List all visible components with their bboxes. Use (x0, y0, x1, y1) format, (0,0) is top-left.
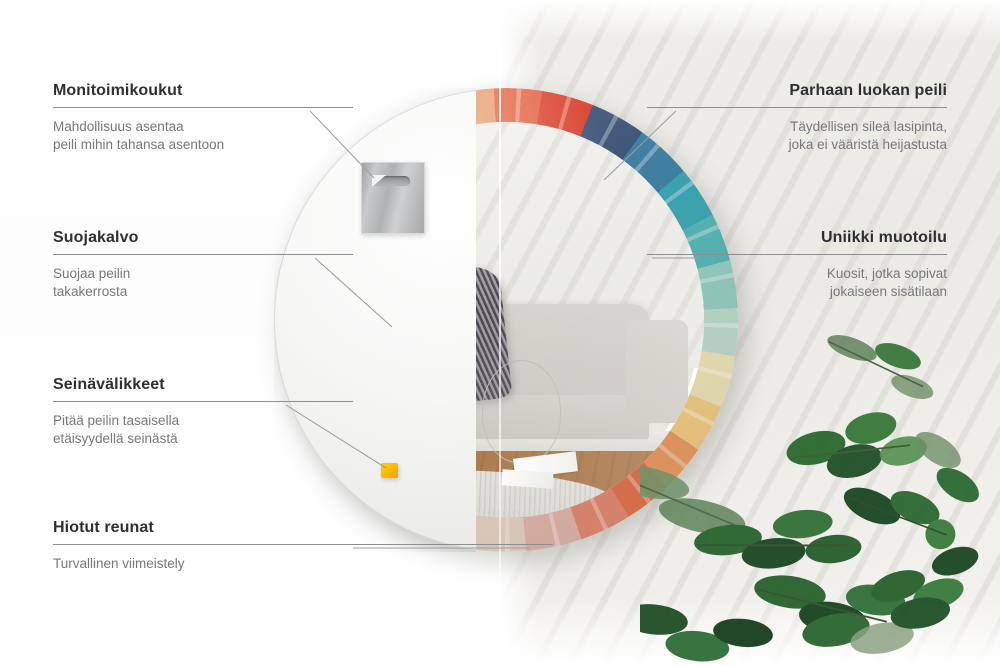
callout-body: Mahdollisuus asentaa peili mihin tahansa… (53, 118, 353, 154)
reflection-wire-chair (482, 360, 561, 463)
callout-divider (53, 401, 353, 402)
infographic-canvas: Monitoimikoukut Mahdollisuus asentaa pei… (0, 0, 1000, 666)
reflection-paper-2 (502, 469, 554, 488)
callout-wall-spacers: Seinävälikkeet Pitää peilin tasaisella e… (53, 376, 353, 448)
hanging-bracket (361, 162, 425, 234)
callout-multi-position-hooks: Monitoimikoukut Mahdollisuus asentaa pei… (53, 82, 353, 154)
callout-title: Monitoimikoukut (53, 82, 353, 100)
bracket-keyhole-slot (372, 176, 410, 186)
callout-polished-edges: Hiotut reunat Turvallinen viimeistely (53, 519, 553, 573)
background-bottom-fade (500, 596, 1000, 666)
callout-unique-design: Uniikki muotoilu Kuosit, jotka sopivat j… (647, 229, 947, 301)
reflection-sofa-arm-right (625, 320, 688, 423)
callout-divider (647, 107, 947, 108)
callout-title: Seinävälikkeet (53, 376, 353, 394)
callout-divider (53, 107, 353, 108)
callout-body: Pitää peilin tasaisella etäisyydellä sei… (53, 412, 353, 448)
wall-spacer (381, 463, 398, 478)
callout-title: Suojakalvo (53, 229, 353, 247)
callout-best-in-class-mirror: Parhaan luokan peili Täydellisen sileä l… (647, 82, 947, 154)
callout-title: Parhaan luokan peili (647, 82, 947, 100)
callout-title: Uniikki muotoilu (647, 229, 947, 247)
background-top-fade (500, 0, 1000, 40)
callout-title: Hiotut reunat (53, 519, 553, 537)
callout-body: Kuosit, jotka sopivat jokaiseen sisätila… (647, 265, 947, 301)
callout-protective-film: Suojakalvo Suojaa peilin takakerrosta (53, 229, 353, 301)
callout-body: Turvallinen viimeistely (53, 555, 553, 573)
callout-divider (647, 254, 947, 255)
callout-divider (53, 254, 353, 255)
callout-body: Suojaa peilin takakerrosta (53, 265, 353, 301)
callout-divider (53, 544, 553, 545)
mirror-front-view (498, 88, 738, 558)
callout-body: Täydellisen sileä lasipinta, joka ei vää… (647, 118, 947, 154)
